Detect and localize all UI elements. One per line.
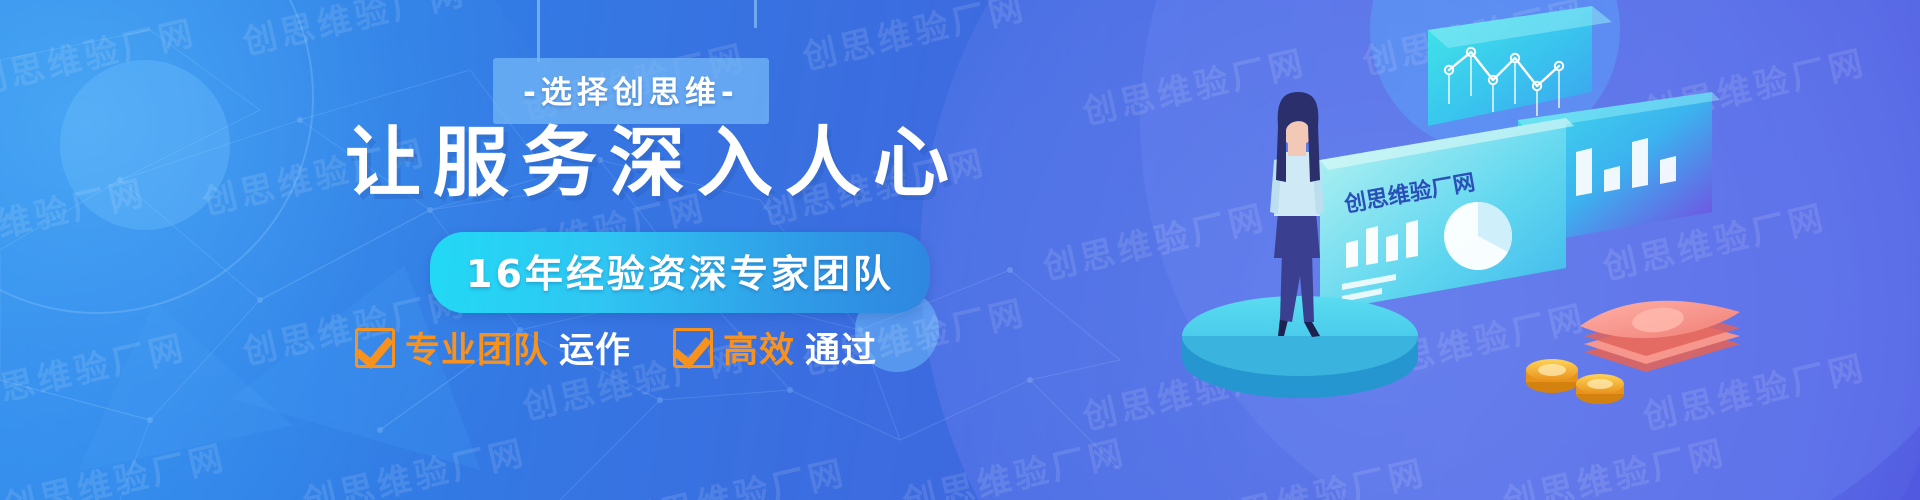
skirt [1274,212,1320,258]
eyebrow-label: -选择创思维- [523,67,739,112]
page-title: 让服务深入人心 [345,125,945,201]
feature-highlight: 高效 [723,322,795,373]
banner-text-content: -选择创思维- 让服务深入人心 16年经验资深专家团队 专业团队 运作 高效 通… [0,0,1080,500]
bar-chart-panel: 创思维验厂网 [1320,118,1574,312]
money-stack [1580,301,1740,372]
line-chart-panel [1428,6,1612,126]
promo-banner: 创思维验厂网 创思维验厂网 创思维验厂网 创思维验厂网 创思维验厂网 创思维验厂… [0,0,1920,500]
list-item: 专业团队 运作 [355,322,631,373]
circular-podium [1182,296,1418,398]
pie-chart [1444,202,1512,270]
subtitle-label: 16年经验资深专家团队 [466,243,894,298]
list-item: 高效 通过 [673,322,877,373]
feature-rest: 通过 [805,322,877,373]
feature-rest: 运作 [559,322,631,373]
checkbox-checked-icon [355,328,395,368]
illustration: 创思维验厂网 [1160,0,1920,500]
feature-highlight: 专业团队 [405,322,549,373]
checkbox-checked-icon [673,328,713,368]
illustration-svg: 创思维验厂网 [1160,0,1920,500]
feature-list: 专业团队 运作 高效 通过 [355,322,877,373]
gold-coins [1526,359,1624,404]
subtitle-pill: 16年经验资深专家团队 [430,232,930,313]
eyebrow-badge: -选择创思维- [493,58,769,124]
